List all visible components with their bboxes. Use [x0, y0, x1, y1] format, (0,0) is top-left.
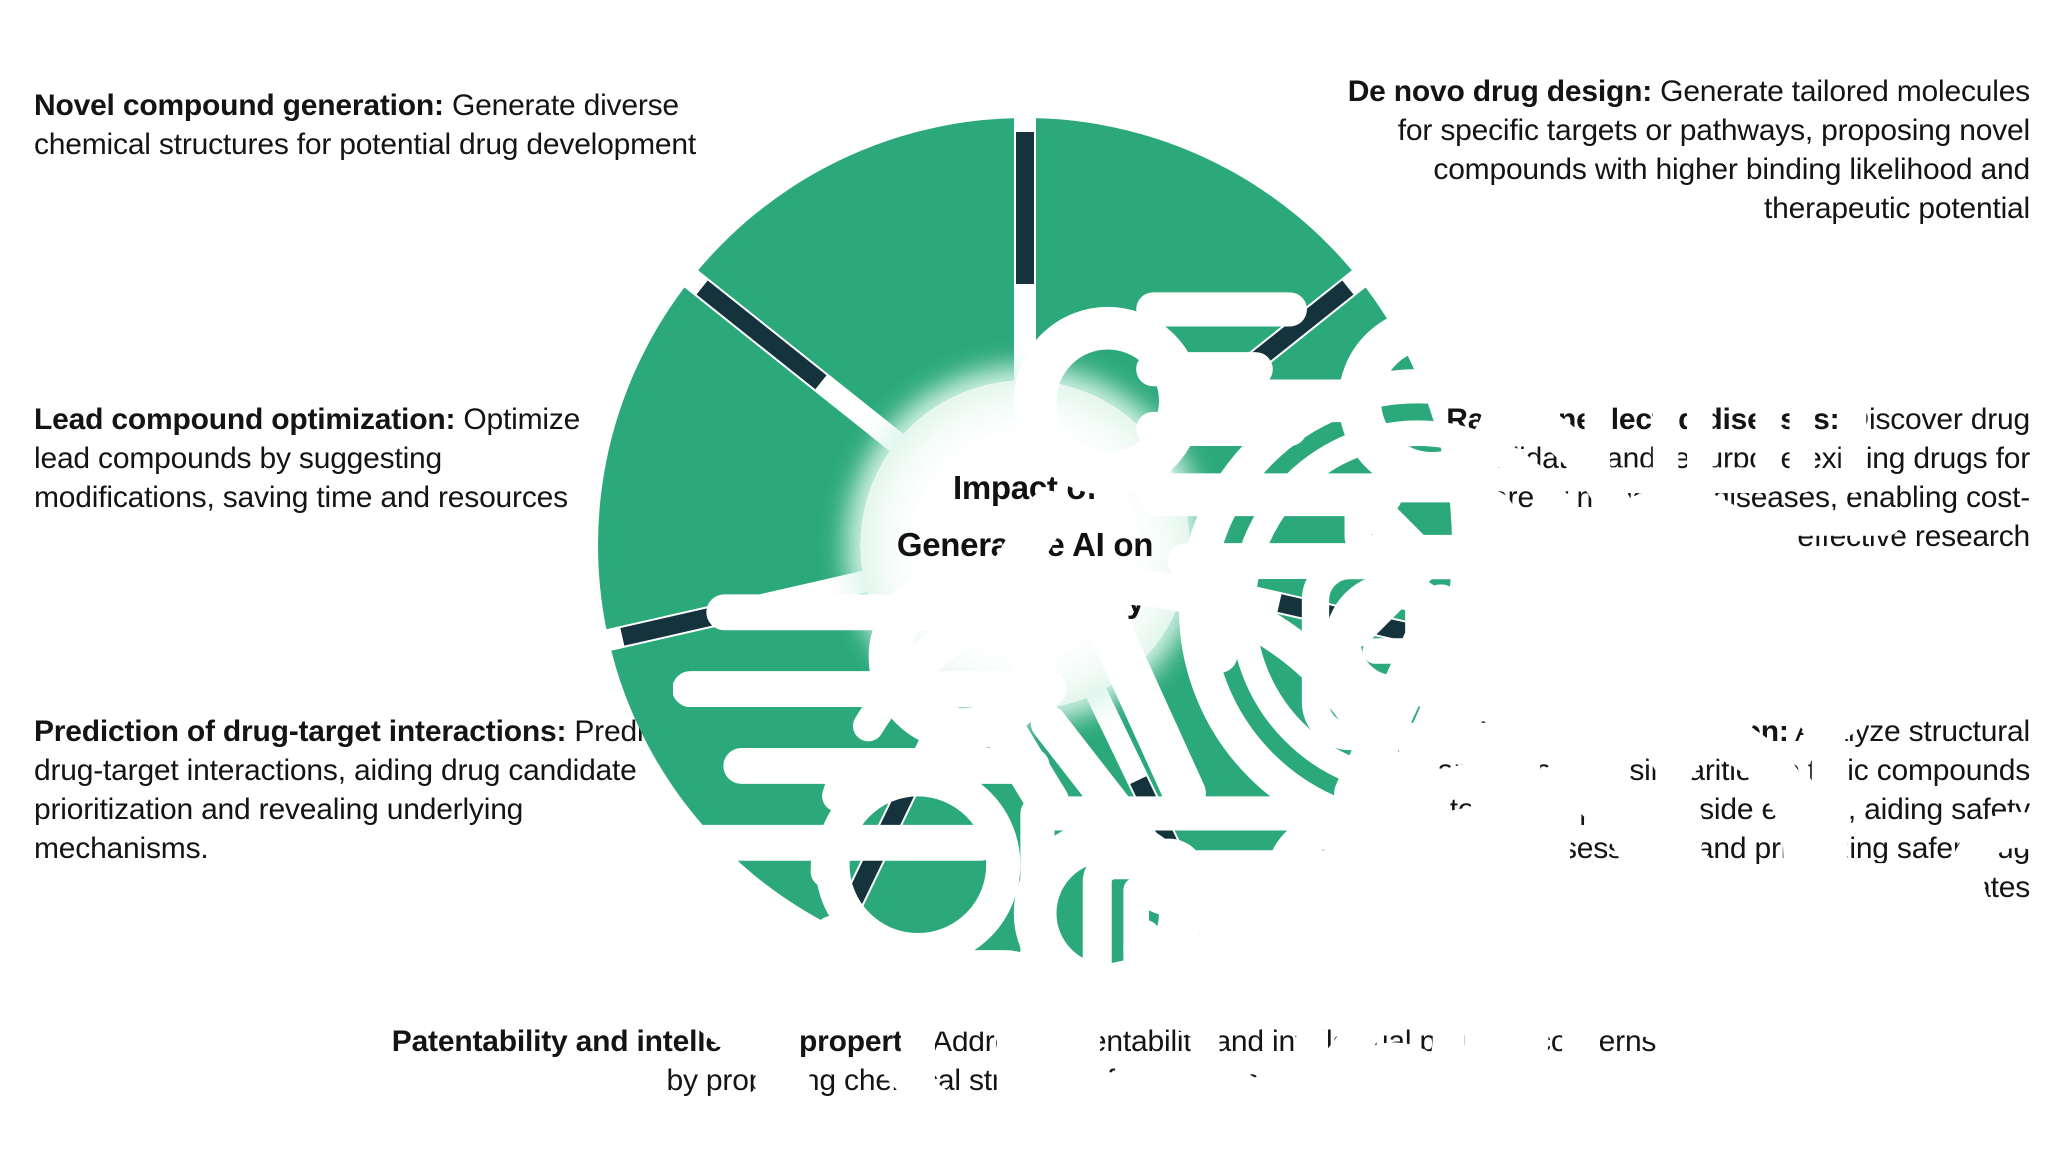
callout-heading-de-novo: De novo drug design: [1348, 75, 1652, 108]
segmented-wheel-diagram: Impact of Generative AI on Drug Discover… [598, 118, 1452, 972]
callout-side-effect: Side effect prediction: Analyze structur… [1430, 712, 2030, 907]
divider-bar [1016, 132, 1034, 284]
callout-drug-target: Prediction of drug-target interactions: … [34, 712, 674, 868]
hub-title-line-2: Generative AI on [880, 517, 1170, 574]
callout-heading-side-effect: Side effect prediction: [1478, 715, 1788, 748]
hub-title-line-3: Drug Discovery [880, 573, 1170, 630]
callout-rare-diseases: Rare or neglected diseases: Discover dru… [1440, 400, 2030, 556]
infographic-canvas: Novel compound generation: Generate dive… [0, 0, 2048, 1171]
callout-heading-rare-diseases: Rare or neglected diseases: [1446, 403, 1839, 436]
callout-heading-patentability: Patentability and intellectual propert [392, 1025, 903, 1058]
center-hub: Impact of Generative AI on Drug Discover… [860, 380, 1190, 710]
hub-title-line-1: Impact of [880, 460, 1170, 517]
callout-patentability: Patentability and intellectual property:… [374, 1022, 1674, 1100]
callout-heading-novel-compound: Novel compound generation: [34, 89, 444, 122]
callout-lead-optimization: Lead compound optimization: Optimize lea… [34, 400, 594, 517]
hub-title: Impact of Generative AI on Drug Discover… [880, 460, 1170, 630]
callout-heading-drug-target: Prediction of drug-target interactions: [34, 715, 566, 748]
callout-heading-lead-optimization: Lead compound optimization: [34, 403, 455, 436]
